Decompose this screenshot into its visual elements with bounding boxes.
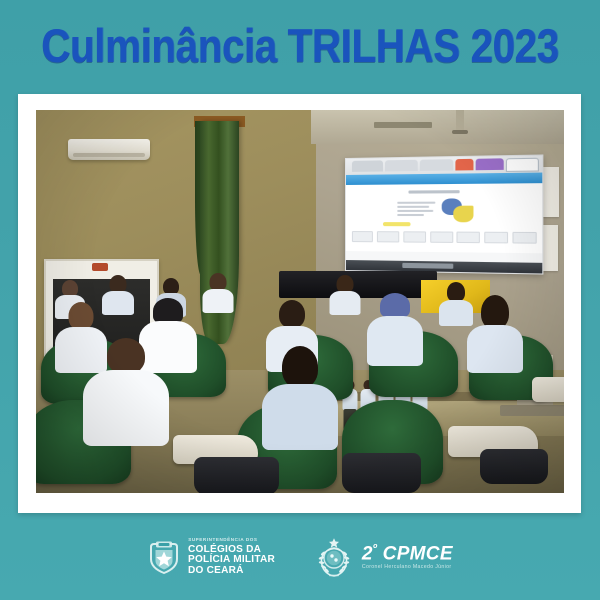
audience-student	[200, 273, 237, 313]
thumbnail-strip	[351, 231, 536, 243]
logo-colegios-pm-ceara: Superintendência dos COLÉGIOS DA POLÍCIA…	[147, 538, 279, 576]
logo-line-3: DO CEARÁ	[188, 565, 275, 576]
thumbnail	[484, 232, 508, 243]
cpmce-title: 2º CPMCE	[362, 544, 453, 564]
browser-tab	[420, 160, 453, 171]
desk-tablet-arm	[532, 377, 564, 401]
photo-frame	[18, 94, 581, 513]
highlight-button	[383, 222, 410, 227]
laurel-wreath-emblem-icon	[313, 536, 355, 578]
poster-title-container: Culminância TRILHAS 2023	[0, 14, 600, 76]
logo-text-block: Superintendência dos COLÉGIOS DA POLÍCIA…	[188, 538, 279, 576]
page-heading-placeholder	[408, 190, 459, 194]
browser-tab	[351, 161, 383, 172]
projected-page-body	[346, 183, 543, 254]
cpmce-acronym: CPMCE	[383, 543, 453, 564]
cpmce-text-block: 2º CPMCE Coronel Herculano Macedo Júnior	[362, 544, 453, 570]
text-line	[397, 210, 434, 212]
cpmce-ordinal-suffix: º	[373, 543, 377, 555]
browser-tab	[475, 159, 503, 170]
backpack	[194, 457, 278, 493]
projection-screen	[345, 154, 544, 274]
python-logo-icon	[441, 198, 473, 222]
audience-student-with-cap	[358, 293, 432, 373]
thumbnail	[430, 231, 453, 242]
audience-student	[458, 295, 532, 375]
cpmce-subtitle: Coronel Herculano Macedo Júnior	[362, 565, 453, 570]
shield-badge-icon	[147, 539, 181, 575]
ceiling-vent	[374, 122, 432, 128]
audience-area	[36, 271, 564, 493]
logo-segundo-cpmce: 2º CPMCE Coronel Herculano Macedo Júnior	[313, 536, 453, 578]
browser-tab	[385, 160, 418, 171]
browser-tab	[505, 158, 538, 172]
backpack	[342, 453, 421, 493]
thumbnail	[351, 231, 373, 242]
ceiling	[311, 110, 564, 144]
thumbnail	[377, 231, 399, 242]
auditorium-scene	[36, 110, 564, 493]
text-line	[397, 201, 436, 203]
air-conditioner-icon	[68, 139, 150, 160]
event-photo	[36, 110, 564, 493]
ceiling-projector-mount	[456, 110, 464, 131]
poster-canvas: Culminância TRILHAS 2023	[0, 0, 600, 600]
thumbnail	[403, 231, 426, 242]
browser-tab	[455, 159, 473, 170]
thumbnail	[457, 232, 480, 243]
backpack	[480, 449, 549, 485]
text-line	[397, 205, 430, 207]
page-title: Culminância TRILHAS 2023	[41, 22, 559, 69]
cpmce-ordinal: 2	[362, 543, 373, 564]
thumbnail	[512, 232, 536, 243]
audience-student	[68, 338, 184, 476]
text-line	[397, 214, 424, 216]
footer-logos: Superintendência dos COLÉGIOS DA POLÍCIA…	[0, 528, 600, 586]
